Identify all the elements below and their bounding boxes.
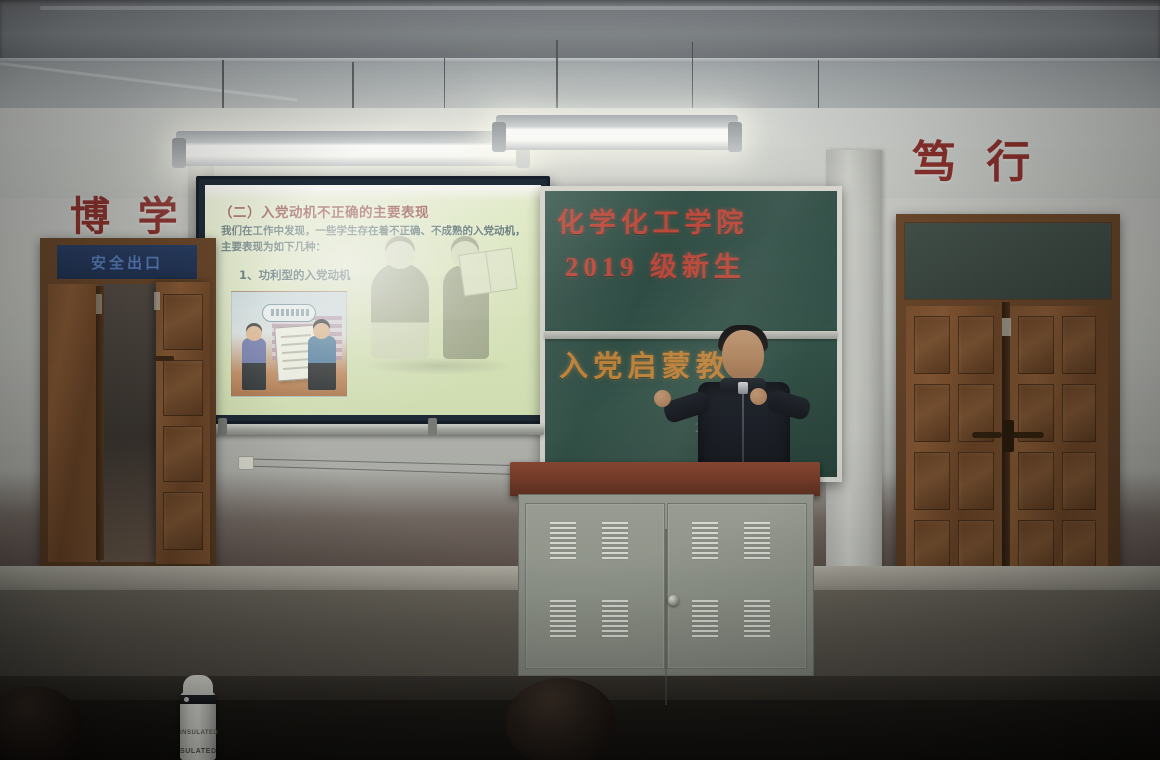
cartoon-figure-a	[242, 338, 266, 390]
chalk-rail	[196, 424, 544, 435]
ceiling-beam-edge	[0, 58, 1160, 63]
door-panel	[958, 316, 994, 374]
door-leaf-left[interactable]	[48, 284, 98, 562]
door-panel	[163, 360, 203, 416]
podium-vent	[692, 600, 718, 638]
door-panel	[163, 492, 203, 550]
speech-bubble-icon	[262, 304, 316, 322]
door-panel	[1018, 452, 1054, 510]
podium-vent	[744, 522, 770, 560]
blackboard-line-1: 化学化工学院	[557, 201, 748, 240]
ceiling-light-right	[496, 124, 738, 150]
rail-bracket	[218, 418, 227, 435]
speaker-zipper-pull	[738, 382, 748, 394]
ceiling-conduit-2	[40, 6, 1160, 10]
fluorescent-tube-icon	[176, 140, 526, 166]
door-panel	[163, 294, 203, 350]
slide-cartoon-left	[231, 291, 347, 397]
door-panel	[163, 426, 203, 482]
podium-cabinet-body	[518, 494, 814, 676]
cartoon-figure-b	[308, 336, 336, 390]
podium	[510, 462, 820, 676]
wall-socket	[238, 456, 254, 470]
exit-sign-label: 安全出口	[57, 252, 197, 273]
wall-motto-right: 笃 行	[912, 126, 1040, 190]
light-housing	[496, 115, 738, 127]
projection-screen: （二）入党动机不正确的主要表现 我们在工作中发现，一些学生存在着不正确、不成熟的…	[205, 185, 541, 415]
speaker-hand-left	[654, 390, 671, 407]
projection-screen-frame: （二）入党动机不正确的主要表现 我们在工作中发现，一些学生存在着不正确、不成熟的…	[196, 176, 550, 424]
door-panel	[1062, 452, 1096, 510]
screen-highlight-band	[205, 185, 541, 201]
door-hinge-icon	[154, 292, 160, 310]
podium-lock-knob[interactable]	[668, 595, 679, 606]
slide-cartoon-right	[357, 245, 525, 395]
classroom-photo: 博 学 笃 行 （二）入党动机不正确的主要表现 我们在工作中发现，一些学生存在着…	[0, 0, 1160, 760]
bottle-text: SULATED	[180, 748, 216, 755]
door-leaf-right[interactable]	[1010, 306, 1108, 606]
bottle-band	[180, 695, 216, 704]
podium-door-left[interactable]	[525, 503, 665, 669]
audience-head	[506, 678, 616, 760]
light-end-cap	[728, 122, 742, 152]
blackboard-line-2: 2019 级新生	[565, 245, 746, 284]
cartoon-figure-large	[371, 263, 429, 359]
light-end-cap	[492, 122, 506, 152]
podium-vent	[602, 522, 628, 560]
door-leaf-right[interactable]	[156, 282, 210, 564]
door-panel	[1062, 316, 1096, 374]
door-panel	[914, 316, 950, 374]
podium-vent	[692, 522, 718, 560]
cartoon-shadow	[363, 357, 513, 375]
door-edge	[96, 286, 104, 560]
door-left[interactable]: 安全出口	[40, 238, 216, 568]
book-icon	[458, 247, 517, 296]
light-end-cap	[172, 138, 186, 168]
exit-sign: 安全出口	[56, 244, 198, 280]
rail-bracket	[428, 418, 437, 435]
light-housing	[176, 131, 526, 143]
slide-title: （二）入党动机不正确的主要表现	[219, 201, 429, 221]
door-handle-icon[interactable]	[972, 432, 1002, 438]
slide-item-1: 1、功利型的入党动机	[239, 267, 351, 283]
podium-wooden-top	[510, 462, 820, 496]
ceiling-light-left	[176, 140, 526, 166]
door-lock-icon	[1002, 318, 1011, 336]
podium-vent	[550, 522, 576, 560]
door-panel	[1062, 384, 1096, 442]
door-panel	[958, 452, 994, 510]
door-panel	[914, 452, 950, 510]
door-right[interactable]	[896, 214, 1120, 618]
fluorescent-tube-icon	[496, 124, 738, 150]
door-center-seam	[1002, 302, 1010, 608]
bottle-logo: INSULATED	[180, 730, 216, 736]
podium-vent	[744, 600, 770, 638]
bottle-cap	[183, 675, 213, 697]
podium-vent	[550, 600, 576, 638]
water-bottle: INSULATED SULATED	[180, 692, 216, 760]
podium-door-right[interactable]	[667, 503, 807, 669]
door-panel	[1018, 316, 1054, 374]
door-lockplate-icon	[1002, 420, 1014, 452]
speaker-head	[722, 330, 764, 380]
wall-motto-left: 博 学	[70, 184, 186, 242]
door-panel	[914, 384, 950, 442]
door-hinge-icon	[96, 294, 102, 314]
speaker-hand-right	[750, 388, 767, 405]
door-leaf-left[interactable]	[906, 306, 1006, 606]
speaker-person	[646, 330, 832, 478]
door-handle-icon[interactable]	[1010, 432, 1044, 438]
door-handle-icon[interactable]	[154, 356, 174, 361]
podium-vent	[602, 600, 628, 638]
door-transom	[904, 222, 1112, 300]
